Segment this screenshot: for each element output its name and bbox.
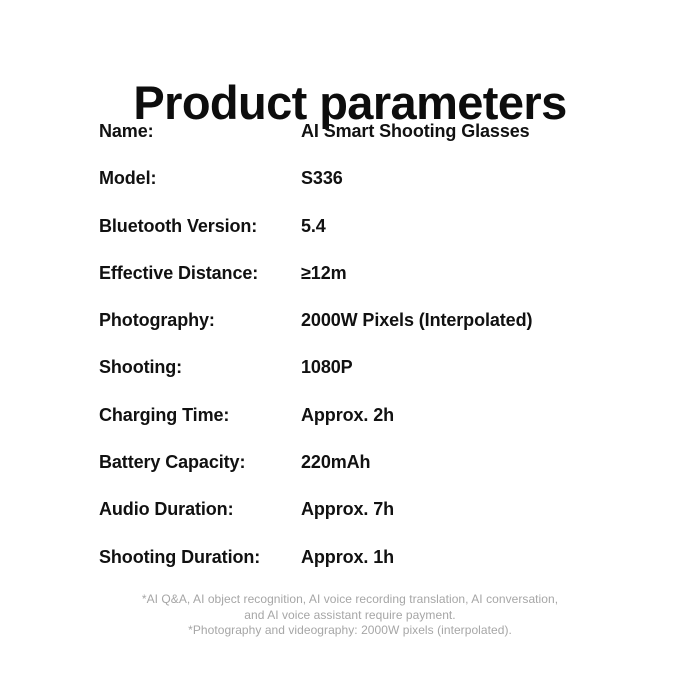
spec-value: ≥12m	[295, 261, 347, 285]
spec-row-effective-distance: Effective Distance:≥12m	[99, 261, 639, 308]
spec-value: Approx. 7h	[295, 497, 394, 521]
footnote-block: *AI Q&A, AI object recognition, AI voice…	[0, 592, 700, 639]
spec-label: Shooting Duration:	[99, 545, 295, 569]
spec-label: Shooting:	[99, 355, 295, 379]
spec-label: Battery Capacity:	[99, 450, 295, 474]
spec-row-audio-duration: Audio Duration:Approx. 7h	[99, 497, 639, 544]
spec-value: 1080P	[295, 355, 353, 379]
spec-value: 5.4	[295, 214, 326, 238]
spec-label: Charging Time:	[99, 403, 295, 427]
spec-value: S336	[295, 166, 343, 190]
spec-row-charging-time: Charging Time:Approx. 2h	[99, 403, 639, 450]
footnote-line: *Photography and videography: 2000W pixe…	[0, 623, 700, 639]
spec-value: 2000W Pixels (Interpolated)	[295, 308, 532, 332]
spec-row-shooting: Shooting:1080P	[99, 355, 639, 402]
spec-label: Model:	[99, 166, 295, 190]
spec-label: Bluetooth Version:	[99, 214, 295, 238]
footnote-line: *AI Q&A, AI object recognition, AI voice…	[0, 592, 700, 608]
spec-label: Audio Duration:	[99, 497, 295, 521]
spec-label: Photography:	[99, 308, 295, 332]
spec-table: Name:AI Smart Shooting Glasses Model:S33…	[99, 119, 639, 592]
spec-row-model: Model:S336	[99, 166, 639, 213]
spec-label: Effective Distance:	[99, 261, 295, 285]
spec-value: AI Smart Shooting Glasses	[295, 119, 530, 143]
spec-value: Approx. 2h	[295, 403, 394, 427]
spec-value: 220mAh	[295, 450, 370, 474]
spec-row-battery-capacity: Battery Capacity:220mAh	[99, 450, 639, 497]
spec-label: Name:	[99, 119, 295, 143]
spec-value: Approx. 1h	[295, 545, 394, 569]
footnote-line: and AI voice assistant require payment.	[0, 608, 700, 624]
spec-row-bluetooth-version: Bluetooth Version:5.4	[99, 214, 639, 261]
spec-row-photography: Photography:2000W Pixels (Interpolated)	[99, 308, 639, 355]
product-parameters-page: Product parameters Name:AI Smart Shootin…	[0, 0, 700, 700]
spec-row-shooting-duration: Shooting Duration:Approx. 1h	[99, 545, 639, 592]
spec-row-name: Name:AI Smart Shooting Glasses	[99, 119, 639, 166]
